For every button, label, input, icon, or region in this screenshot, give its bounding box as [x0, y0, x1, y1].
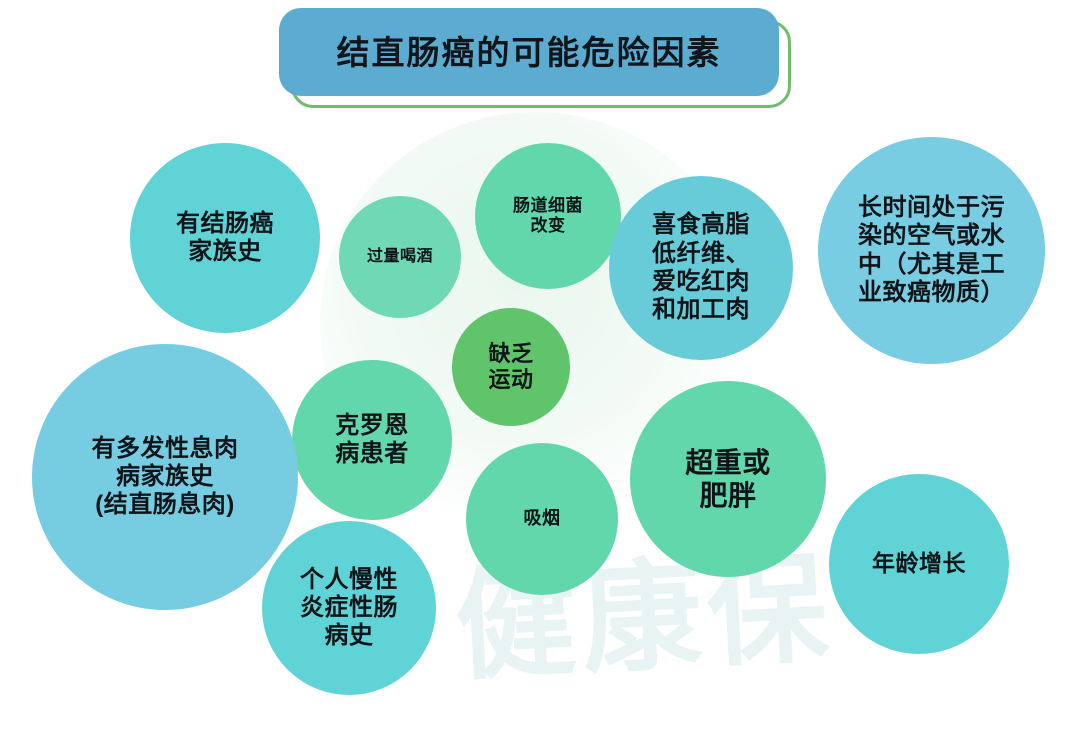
risk-bubble-label: 吸烟	[518, 508, 567, 529]
title-banner: 结直肠癌的可能危险因素	[279, 8, 779, 96]
risk-bubble-label: 有多发性息肉 病家族史 (结直肠息肉)	[86, 435, 245, 520]
risk-bubble-label: 肠道细菌 改变	[507, 196, 589, 236]
risk-bubble-gut-bacteria-change[interactable]: 肠道细菌 改变	[475, 143, 621, 289]
risk-bubble-crohns-disease[interactable]: 克罗恩 病患者	[292, 360, 452, 520]
risk-bubble-excessive-drinking[interactable]: 过量喝酒	[339, 196, 461, 318]
risk-bubble-polluted-air-water[interactable]: 长时间处于污 染的空气或水 中（尤其是工 业致癌物质）	[818, 137, 1045, 364]
title-banner-wrapper: 结直肠癌的可能危险因素	[279, 8, 779, 96]
risk-bubble-label: 长时间处于污 染的空气或水 中（尤其是工 业致癌物质）	[852, 194, 1011, 307]
risk-bubble-label: 过量喝酒	[361, 248, 439, 267]
risk-bubble-family-history-polyposis[interactable]: 有多发性息肉 病家族史 (结直肠息肉)	[32, 344, 298, 610]
risk-bubble-overweight-obesity[interactable]: 超重或 肥胖	[630, 381, 826, 577]
risk-bubble-high-fat-low-fiber-diet[interactable]: 喜食高脂 低纤维、 爱吃红肉 和加工肉	[609, 176, 793, 360]
risk-bubble-lack-of-exercise[interactable]: 缺乏 运动	[452, 308, 570, 426]
risk-bubble-label: 有结肠癌 家族史	[170, 210, 280, 267]
risk-bubble-label: 个人慢性 炎症性肠 病史	[294, 566, 404, 651]
risk-bubble-label: 年龄增长	[866, 550, 972, 577]
risk-bubble-label: 缺乏 运动	[482, 341, 539, 393]
infographic-canvas: 健康保 结直肠癌的可能危险因素 有结肠癌 家族史过量喝酒肠道细菌 改变喜食高脂 …	[0, 0, 1080, 737]
risk-bubble-smoking[interactable]: 吸烟	[466, 443, 618, 595]
risk-bubble-label: 喜食高脂 低纤维、 爱吃红肉 和加工肉	[646, 211, 756, 324]
risk-bubble-chronic-inflammatory-bowel[interactable]: 个人慢性 炎症性肠 病史	[262, 521, 436, 695]
risk-bubble-increasing-age[interactable]: 年龄增长	[829, 474, 1009, 654]
risk-bubble-family-history-colon-cancer[interactable]: 有结肠癌 家族史	[130, 143, 320, 333]
page-title: 结直肠癌的可能危险因素	[337, 36, 722, 69]
risk-bubble-label: 超重或 肥胖	[679, 446, 777, 512]
risk-bubble-label: 克罗恩 病患者	[329, 412, 415, 469]
